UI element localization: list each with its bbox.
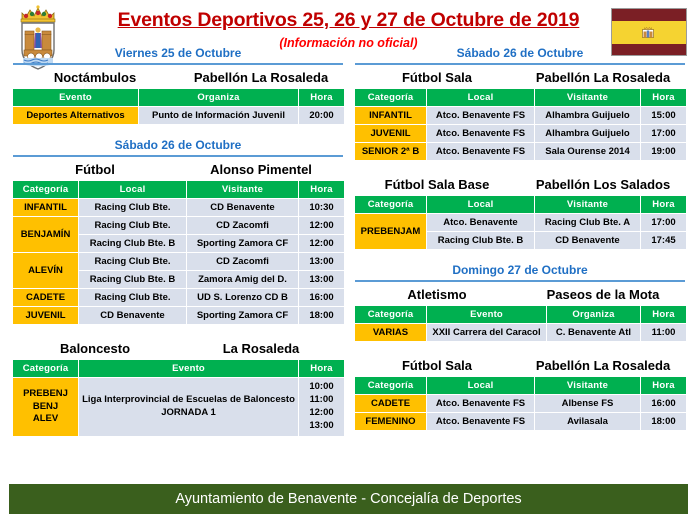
cell-categoria: PREBENJ BENJ ALEV: [13, 378, 79, 437]
column-header-local: Local: [427, 196, 535, 214]
column-header-visitante: Visitante: [535, 377, 641, 395]
event-schedule-poster: Eventos Deportivos 25, 26 y 27 de Octubr…: [0, 0, 697, 523]
table-header-row: Categoría Local Visitante Hora: [355, 196, 687, 214]
venue-name: Paseos de la Mota: [520, 287, 686, 302]
cell-categoria: JUVENIL: [13, 307, 79, 325]
section-header-futbol-sala: Fútbol Sala Pabellón La Rosaleda: [354, 70, 686, 85]
sport-name: Fútbol Sala Base: [354, 177, 520, 192]
cell-visitante: Sporting Zamora CF: [187, 307, 299, 325]
cell-categoria: PREBENJAM: [355, 214, 427, 250]
table-futbol-sala-sabado: Categoría Local Visitante Hora INFANTIL …: [354, 88, 687, 161]
cell-hora: 10:30: [299, 199, 345, 217]
cell-visitante: Sala Ourense 2014: [535, 143, 641, 161]
table-row: VARIAS XXII Carrera del Caracol C. Benav…: [355, 324, 687, 342]
cell-local: Atco. Benavente FS: [427, 413, 535, 431]
cell-hora: 11:00: [641, 324, 687, 342]
table-futbol: Categoría Local Visitante Hora INFANTIL …: [12, 180, 345, 325]
cell-categoria: SENIOR 2ª B: [355, 143, 427, 161]
cell-organiza: Punto de Información Juvenil: [139, 107, 299, 125]
cell-hora: 12:00: [299, 217, 345, 235]
day-heading-domingo-27: Domingo 27 de Octubre: [352, 263, 688, 280]
section-header-baloncesto: Baloncesto La Rosaleda: [12, 341, 344, 356]
sport-name: Fútbol Sala: [354, 358, 520, 373]
table-atletismo: Categoría Evento Organiza Hora VARIAS XX…: [354, 305, 687, 342]
section-header-futbol-sala-domingo: Fútbol Sala Pabellón La Rosaleda: [354, 358, 686, 373]
column-header-local: Local: [427, 377, 535, 395]
table-row: FEMENINO Atco. Benavente FS Avilasala 18…: [355, 413, 687, 431]
table-futbol-sala-domingo: Categoría Local Visitante Hora CADETE At…: [354, 376, 687, 431]
column-header-categoria: Categoría: [355, 89, 427, 107]
table-header-row: Categoría Local Visitante Hora: [355, 89, 687, 107]
column-header-evento: Evento: [13, 89, 139, 107]
venue-name: Alonso Pimentel: [178, 162, 344, 177]
footer-text: Ayuntamiento de Benavente - Concejalía d…: [175, 491, 521, 507]
cell-hora: 17:00: [641, 214, 687, 232]
column-header-evento: Evento: [79, 360, 299, 378]
venue-name: Pabellón La Rosaleda: [520, 358, 686, 373]
day-divider: [355, 63, 685, 65]
cell-local: Racing Club Bte. B: [79, 271, 187, 289]
table-noctambulos: Evento Organiza Hora Deportes Alternativ…: [12, 88, 345, 125]
column-header-hora: Hora: [299, 181, 345, 199]
cell-hora: 13:00: [299, 271, 345, 289]
table-row: JUVENIL Atco. Benavente FS Alhambra Guij…: [355, 125, 687, 143]
column-header-hora: Hora: [641, 377, 687, 395]
table-row: CADETE Racing Club Bte. UD S. Lorenzo CD…: [13, 289, 345, 307]
sport-name: Atletismo: [354, 287, 520, 302]
table-row: INFANTIL Atco. Benavente FS Alhambra Gui…: [355, 107, 687, 125]
cell-visitante: Alhambra Guijuelo: [535, 125, 641, 143]
column-header-visitante: Visitante: [535, 89, 641, 107]
cell-local: Racing Club Bte. B: [427, 232, 535, 250]
column-header-hora: Hora: [641, 196, 687, 214]
cell-organiza: C. Benavente Atl: [547, 324, 641, 342]
day-heading-sabado-26-left: Sábado 26 de Octubre: [10, 138, 346, 155]
section-header-futbol: Fútbol Alonso Pimentel: [12, 162, 344, 177]
table-row: ALEVÍN Racing Club Bte. CD Zacomfi 13:00: [13, 253, 345, 271]
cell-categoria: FEMENINO: [355, 413, 427, 431]
day-divider: [13, 155, 343, 157]
sport-name: Fútbol: [12, 162, 178, 177]
cell-categoria: VARIAS: [355, 324, 427, 342]
column-left: Viernes 25 de Octubre Noctámbulos Pabell…: [10, 46, 346, 437]
column-header-organiza: Organiza: [547, 306, 641, 324]
column-header-categoria: Categoría: [13, 181, 79, 199]
cell-visitante: Zamora Amig del D.: [187, 271, 299, 289]
cell-hora: 13:00: [299, 253, 345, 271]
table-header-row: Categoría Local Visitante Hora: [13, 181, 345, 199]
day-heading-sabado-26-right: Sábado 26 de Octubre: [352, 46, 688, 63]
venue-name: La Rosaleda: [178, 341, 344, 356]
cell-hora: 17:00: [641, 125, 687, 143]
section-header-atletismo: Atletismo Paseos de la Mota: [354, 287, 686, 302]
column-header-visitante: Visitante: [187, 181, 299, 199]
column-header-local: Local: [79, 181, 187, 199]
table-header-row: Categoría Evento Organiza Hora: [355, 306, 687, 324]
cell-visitante: Alhambra Guijuelo: [535, 107, 641, 125]
cell-categoria: CADETE: [355, 395, 427, 413]
venue-name: Pabellón Los Salados: [520, 177, 686, 192]
cell-local: CD Benavente: [79, 307, 187, 325]
venue-name: Pabellón La Rosaleda: [178, 70, 344, 85]
cell-visitante: Avilasala: [535, 413, 641, 431]
cell-local: Racing Club Bte.: [79, 199, 187, 217]
flag-emblem-icon: [641, 25, 654, 40]
cell-hora: 12:00: [299, 235, 345, 253]
sport-name: Fútbol Sala: [354, 70, 520, 85]
column-header-categoria: Categoría: [13, 360, 79, 378]
cell-visitante: CD Zacomfi: [187, 217, 299, 235]
table-row: CADETE Atco. Benavente FS Albense FS 16:…: [355, 395, 687, 413]
cell-hora: 15:00: [641, 107, 687, 125]
column-header-organiza: Organiza: [139, 89, 299, 107]
cell-visitante: UD S. Lorenzo CD B: [187, 289, 299, 307]
cell-categoria: CADETE: [13, 289, 79, 307]
section-header-futbol-sala-base: Fútbol Sala Base Pabellón Los Salados: [354, 177, 686, 192]
table-futbol-sala-base: Categoría Local Visitante Hora PREBENJAM…: [354, 195, 687, 250]
cell-local: Atco. Benavente FS: [427, 107, 535, 125]
column-header-hora: Hora: [299, 360, 345, 378]
table-baloncesto: Categoría Evento Hora PREBENJ BENJ ALEV …: [12, 359, 345, 437]
cell-evento: XXII Carrera del Caracol: [427, 324, 547, 342]
cell-local: Atco. Benavente FS: [427, 125, 535, 143]
cell-categoria: ALEVÍN: [13, 253, 79, 289]
column-header-local: Local: [427, 89, 535, 107]
day-heading-viernes-25: Viernes 25 de Octubre: [10, 46, 346, 63]
cell-local: Atco. Benavente FS: [427, 395, 535, 413]
footer-banner: Ayuntamiento de Benavente - Concejalía d…: [9, 484, 688, 514]
cell-hora: 16:00: [641, 395, 687, 413]
cell-hora: 17:45: [641, 232, 687, 250]
cell-local: Racing Club Bte. B: [79, 235, 187, 253]
poster-header: Eventos Deportivos 25, 26 y 27 de Octubr…: [0, 0, 697, 46]
cell-visitante: CD Zacomfi: [187, 253, 299, 271]
cell-visitante: Sporting Zamora CF: [187, 235, 299, 253]
cell-categoria: INFANTIL: [355, 107, 427, 125]
table-row: PREBENJAM Atco. Benavente Racing Club Bt…: [355, 214, 687, 232]
section-header-noctambulos: Noctámbulos Pabellón La Rosaleda: [12, 70, 344, 85]
table-header-row: Categoría Evento Hora: [13, 360, 345, 378]
cell-hora: 19:00: [641, 143, 687, 161]
column-header-evento: Evento: [427, 306, 547, 324]
day-divider: [13, 63, 343, 65]
cell-categoria: INFANTIL: [13, 199, 79, 217]
column-header-categoria: Categoría: [355, 377, 427, 395]
cell-categoria: JUVENIL: [355, 125, 427, 143]
column-header-hora: Hora: [299, 89, 345, 107]
cell-local: Atco. Benavente FS: [427, 143, 535, 161]
sport-name: Noctámbulos: [12, 70, 178, 85]
table-row: BENJAMÍN Racing Club Bte. CD Zacomfi 12:…: [13, 217, 345, 235]
cell-hora: 16:00: [299, 289, 345, 307]
cell-hora: 20:00: [299, 107, 345, 125]
venue-name: Pabellón La Rosaleda: [520, 70, 686, 85]
column-right: Sábado 26 de Octubre Fútbol Sala Pabelló…: [352, 46, 688, 431]
cell-local: Racing Club Bte.: [79, 289, 187, 307]
table-header-row: Categoría Local Visitante Hora: [355, 377, 687, 395]
day-divider: [355, 280, 685, 282]
cell-local: Racing Club Bte.: [79, 253, 187, 271]
column-header-visitante: Visitante: [535, 196, 641, 214]
cell-visitante: Albense FS: [535, 395, 641, 413]
cell-visitante: CD Benavente: [187, 199, 299, 217]
table-row: PREBENJ BENJ ALEV Liga Interprovincial d…: [13, 378, 345, 437]
column-header-hora: Hora: [641, 89, 687, 107]
cell-visitante: Racing Club Bte. A: [535, 214, 641, 232]
cell-local: Atco. Benavente: [427, 214, 535, 232]
cell-hora: 10:00 11:00 12:00 13:00: [299, 378, 345, 437]
cell-evento: Deportes Alternativos: [13, 107, 139, 125]
cell-hora: 18:00: [299, 307, 345, 325]
table-row: JUVENIL CD Benavente Sporting Zamora CF …: [13, 307, 345, 325]
table-row: Deportes Alternativos Punto de Informaci…: [13, 107, 345, 125]
table-header-row: Evento Organiza Hora: [13, 89, 345, 107]
column-header-categoria: Categoría: [355, 306, 427, 324]
column-header-hora: Hora: [641, 306, 687, 324]
table-row: SENIOR 2ª B Atco. Benavente FS Sala Oure…: [355, 143, 687, 161]
page-title: Eventos Deportivos 25, 26 y 27 de Octubr…: [0, 9, 697, 32]
cell-local: Racing Club Bte.: [79, 217, 187, 235]
cell-visitante: CD Benavente: [535, 232, 641, 250]
table-row: INFANTIL Racing Club Bte. CD Benavente 1…: [13, 199, 345, 217]
column-header-categoria: Categoría: [355, 196, 427, 214]
cell-categoria: BENJAMÍN: [13, 217, 79, 253]
cell-evento: Liga Interprovincial de Escuelas de Balo…: [79, 378, 299, 437]
cell-hora: 18:00: [641, 413, 687, 431]
flag-band-top: [612, 9, 686, 21]
sport-name: Baloncesto: [12, 341, 178, 356]
